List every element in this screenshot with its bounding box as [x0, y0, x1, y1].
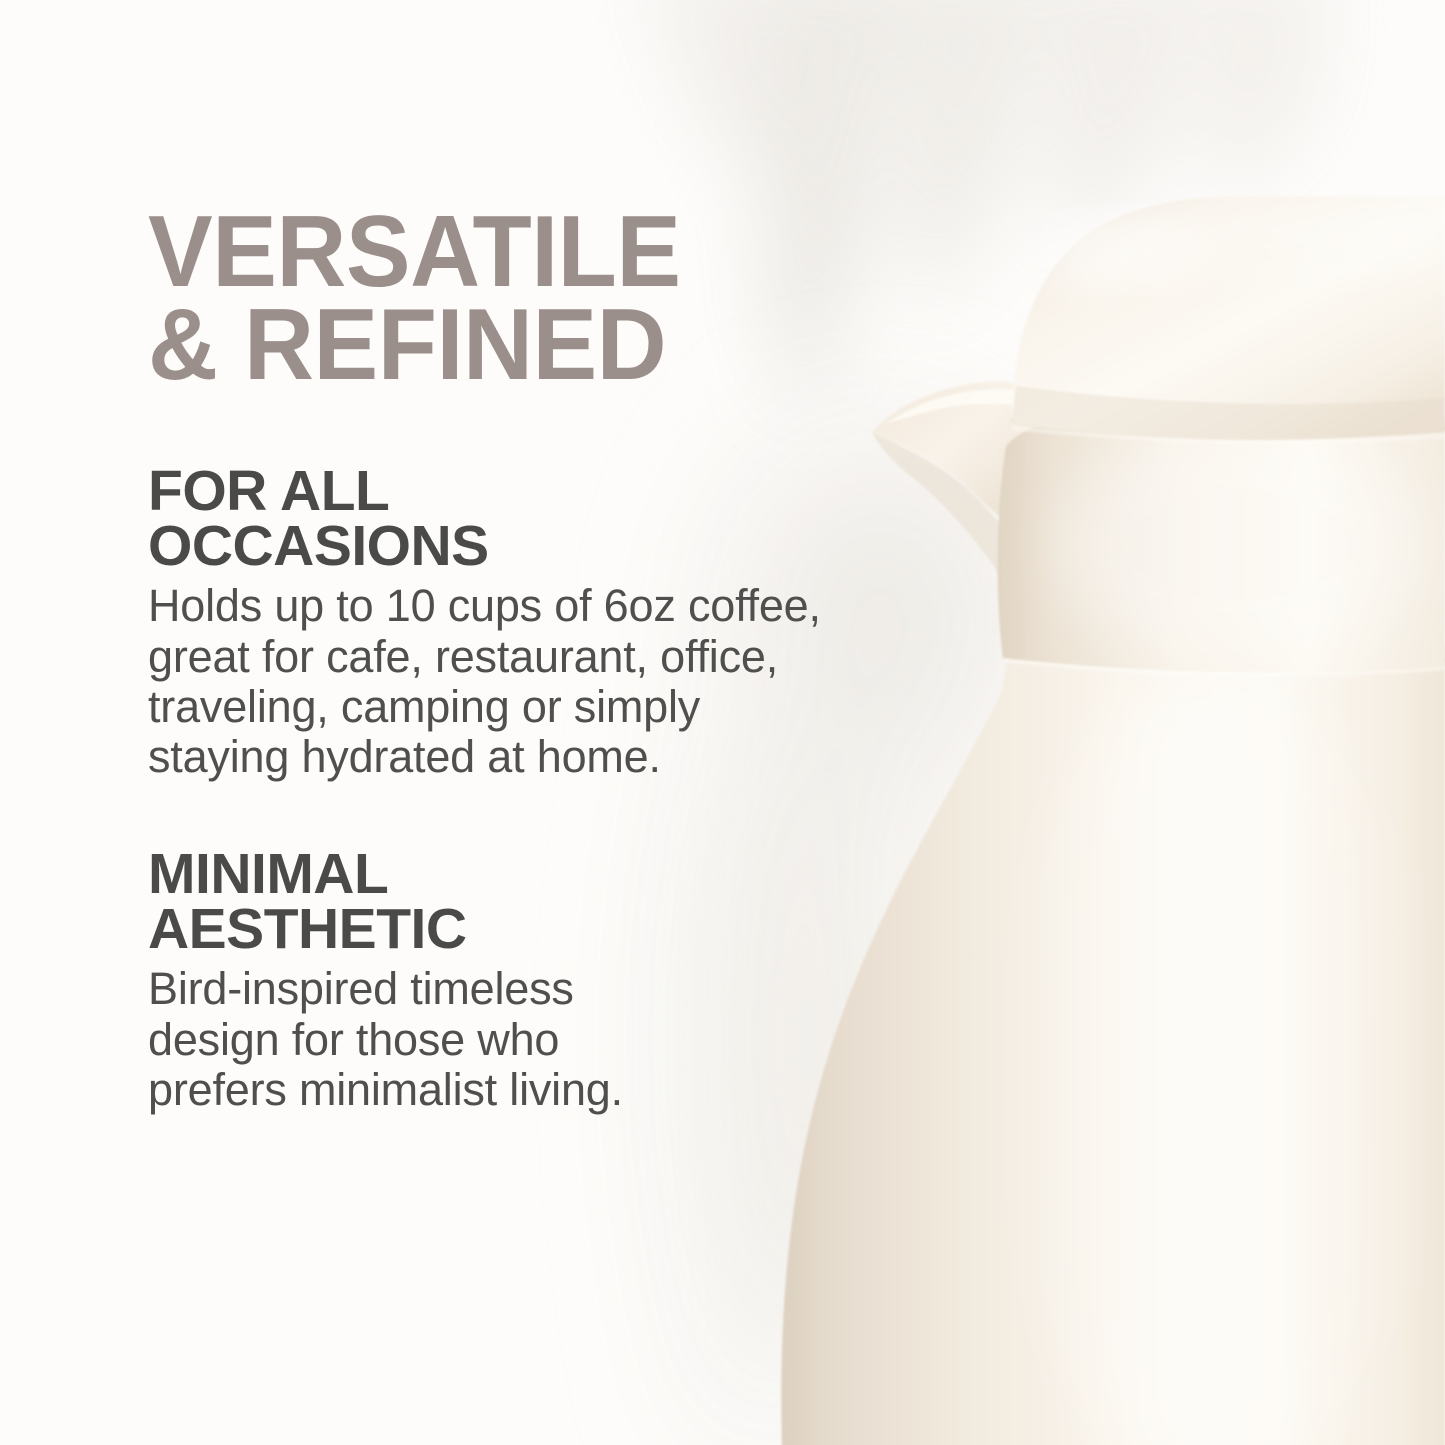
feature-title-for-all-occasions: FOR ALL OCCASIONS — [148, 464, 868, 573]
feature-title-minimal-aesthetic: MINIMAL AESTHETIC — [148, 847, 868, 956]
feature-body-minimal-aesthetic: Bird-inspired timeless design for those … — [148, 964, 708, 1115]
feature-for-all-occasions: FOR ALL OCCASIONS Holds up to 10 cups of… — [148, 464, 868, 783]
lid-seam — [1012, 420, 1445, 441]
body-seam — [1005, 652, 1445, 674]
page-title: VERSATILE & REFINED — [148, 206, 839, 392]
product-feature-infographic: VERSATILE & REFINED FOR ALL OCCASIONS Ho… — [0, 0, 1445, 1445]
carafe-spout — [872, 382, 1082, 612]
feature-body-for-all-occasions: Holds up to 10 cups of 6oz coffee, great… — [148, 581, 848, 783]
carafe-collar — [998, 418, 1445, 672]
copy-column: VERSATILE & REFINED FOR ALL OCCASIONS Ho… — [148, 206, 868, 1115]
carafe-body — [781, 645, 1445, 1445]
carafe-lid — [1012, 196, 1445, 441]
feature-minimal-aesthetic: MINIMAL AESTHETIC Bird-inspired timeless… — [148, 847, 868, 1116]
lid-specular — [1040, 224, 1200, 276]
